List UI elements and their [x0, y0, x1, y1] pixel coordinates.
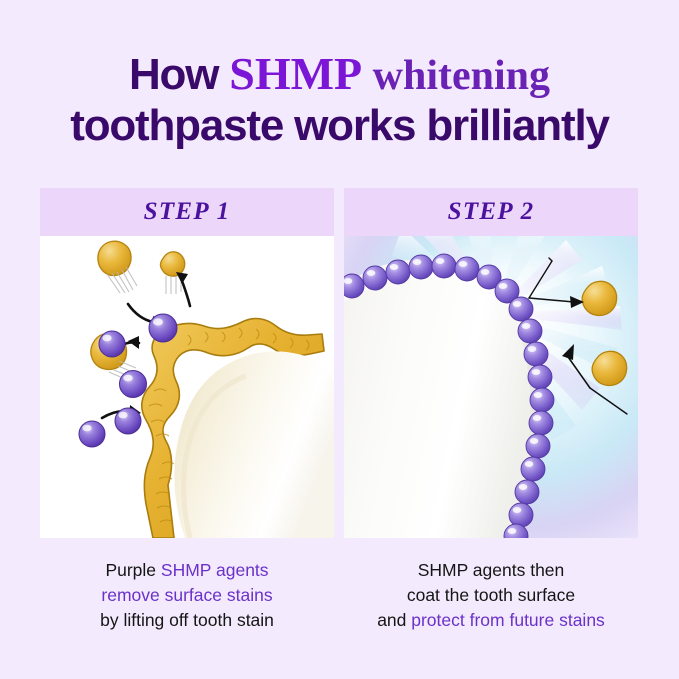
shmp-agent [455, 257, 479, 281]
shmp-agent [79, 421, 105, 447]
panel-header-step-1: STEP 1 [40, 188, 334, 236]
step-1-label: STEP 1 [144, 198, 231, 226]
caption-1-line-2: remove surface stains [40, 583, 334, 608]
shmp-agent [528, 365, 552, 389]
shmp-agent [515, 480, 539, 504]
caption-1-line-3: by lifting off tooth stain [40, 608, 334, 633]
panel-step-2: STEP 2 [344, 188, 638, 538]
headline-line-1: How SHMP whitening [0, 48, 679, 101]
shmp-agent [363, 266, 387, 290]
illustration-step-2 [344, 236, 638, 538]
caption-2-phrase-protect: protect from future stains [411, 610, 605, 630]
panel-step-1: STEP 1 [40, 188, 334, 538]
illustration-step-1 [40, 236, 334, 538]
shmp-agent [509, 297, 533, 321]
shmp-agent [386, 260, 410, 284]
caption-step-1: Purple SHMP agents remove surface stains… [40, 558, 334, 648]
shmp-agent [526, 434, 550, 458]
caption-step-2: SHMP agents then coat the tooth surface … [344, 558, 638, 648]
shmp-agent [518, 319, 542, 343]
shmp-agent [509, 503, 533, 527]
headline-line-2: toothpaste works brilliantly [0, 101, 679, 151]
caption-2-word-and: and [377, 610, 411, 630]
steps-panel-group: STEP 1 [40, 188, 639, 538]
headline-word-how: How [129, 50, 229, 99]
caption-2-line-1: SHMP agents then [344, 558, 638, 583]
step-2-label: STEP 2 [448, 198, 535, 226]
shmp-agent [149, 314, 177, 342]
shmp-agent [99, 331, 125, 357]
shmp-agent [409, 255, 433, 279]
caption-2-line-3: and protect from future stains [344, 608, 638, 633]
shmp-agent [432, 254, 456, 278]
caption-2-line-2: coat the tooth surface [344, 583, 638, 608]
caption-1-word-purple: Purple [105, 560, 160, 580]
shmp-agent [120, 371, 147, 398]
shmp-agent [521, 457, 545, 481]
shmp-agent [524, 342, 548, 366]
shmp-agent [529, 411, 553, 435]
caption-group: Purple SHMP agents remove surface stains… [40, 558, 639, 648]
page-title: How SHMP whitening toothpaste works bril… [0, 48, 679, 151]
caption-1-phrase-agents: SHMP agents [161, 560, 269, 580]
panel-header-step-2: STEP 2 [344, 188, 638, 236]
headline-brand-shmp: SHMP [229, 48, 362, 99]
shmp-agent [530, 388, 554, 412]
headline-word-whitening: whitening [362, 53, 550, 99]
shmp-agent [115, 408, 141, 434]
caption-1-line-1: Purple SHMP agents [40, 558, 334, 583]
shmp-agent [344, 274, 364, 298]
